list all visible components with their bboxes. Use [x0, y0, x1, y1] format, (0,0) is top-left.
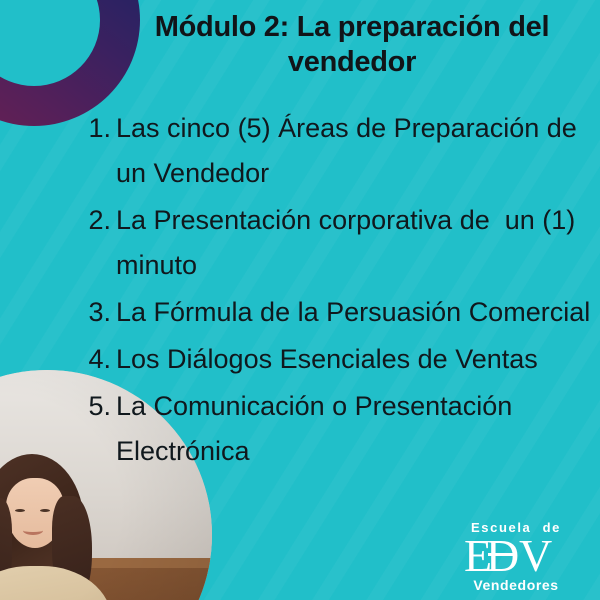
list-item: 2. La Presentación corporativa de un (1)… — [86, 198, 592, 288]
brand-logo-top-text: Escuela de — [446, 521, 586, 534]
list-item-label: Las cinco (5) Áreas de Preparación de un… — [116, 106, 592, 196]
brand-logo: Escuela de E D V Vendedores — [446, 521, 586, 592]
list-item-number: 4. — [86, 337, 116, 382]
list-item-number: 1. — [86, 106, 116, 151]
list-item-label: La Presentación corporativa de un (1) mi… — [116, 198, 592, 288]
edv-monogram-icon: E D V — [446, 535, 586, 577]
slide-canvas: Módulo 2: La preparación del vendedor 1.… — [0, 0, 600, 600]
list-item: 1. Las cinco (5) Áreas de Preparación de… — [86, 106, 592, 196]
list-item: 4. Los Diálogos Esenciales de Ventas — [86, 337, 592, 382]
list-item-label: La Fórmula de la Persuasión Comercial — [116, 290, 592, 335]
brand-logo-bottom-text: Vendedores — [446, 578, 586, 592]
list-item-number: 2. — [86, 198, 116, 243]
list-item: 5. La Comunicación o Presentación Electr… — [86, 384, 592, 474]
list-item: 3. La Fórmula de la Persuasión Comercial — [86, 290, 592, 335]
svg-text:V: V — [519, 535, 552, 577]
list-item-number: 5. — [86, 384, 116, 429]
list-item-label: Los Diálogos Esenciales de Ventas — [116, 337, 592, 382]
list-item-label: La Comunicación o Presentación Electróni… — [116, 384, 592, 474]
page-title: Módulo 2: La preparación del vendedor — [118, 10, 586, 81]
list-item-number: 3. — [86, 290, 116, 335]
topics-list: 1. Las cinco (5) Áreas de Preparación de… — [86, 106, 592, 476]
